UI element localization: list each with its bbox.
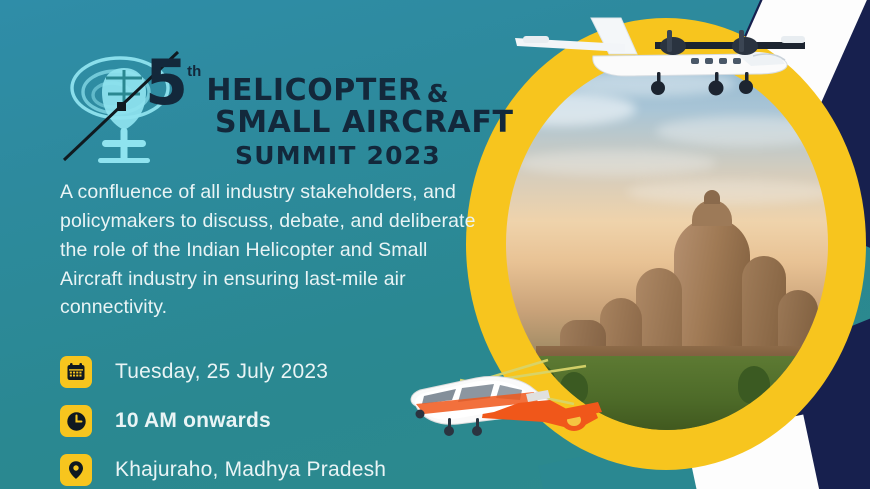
event-description: A confluence of all industry stakeholder…	[60, 178, 480, 322]
twin-propeller-aircraft	[505, 0, 835, 106]
location-pin-icon	[60, 454, 92, 486]
detail-row-time: 10 AM onwards	[60, 401, 386, 441]
detail-row-location: Khajuraho, Madhya Pradesh	[60, 450, 386, 489]
orange-white-helicopter	[398, 352, 608, 467]
event-details-list: Tuesday, 25 July 2023 10 AM onwards Khaj…	[60, 352, 386, 489]
title-line-1: HELICOPTER	[206, 76, 421, 106]
detail-location-text: Khajuraho, Madhya Pradesh	[115, 458, 386, 482]
calendar-icon	[60, 356, 92, 388]
event-banner: 5 th HELICOPTER & SMALL AIRCRAFT SUMMIT …	[0, 0, 870, 489]
title-line-3: SUMMIT 2023	[235, 141, 514, 170]
detail-time-text: 10 AM onwards	[115, 409, 271, 433]
title-ampersand: &	[427, 81, 449, 106]
title-line-2: SMALL AIRCRAFT	[215, 105, 514, 140]
clock-icon	[60, 405, 92, 437]
ordinal-suffix: th	[187, 64, 201, 79]
event-title: 5 th HELICOPTER & SMALL AIRCRAFT SUMMIT …	[145, 58, 514, 170]
edition-number: 5	[145, 58, 186, 109]
detail-row-date: Tuesday, 25 July 2023	[60, 352, 386, 392]
detail-date-text: Tuesday, 25 July 2023	[115, 360, 328, 384]
